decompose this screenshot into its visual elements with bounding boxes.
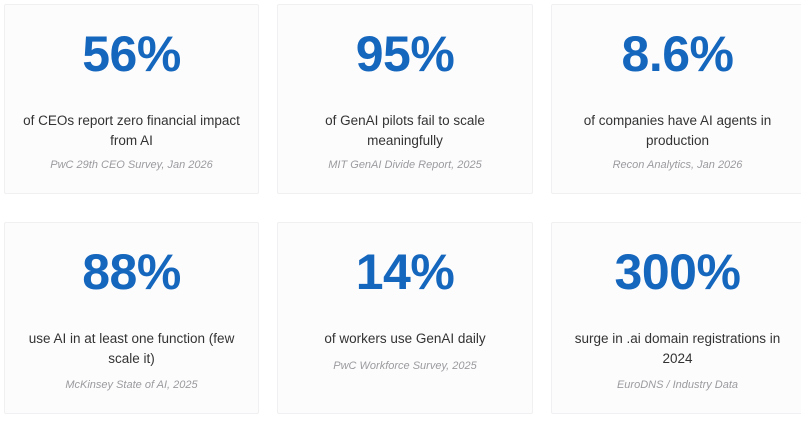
stat-card: 300% surge in .ai domain registrations i… [551,222,801,414]
stat-source: PwC 29th CEO Survey, Jan 2026 [50,159,212,171]
stat-card: 56% of CEOs report zero financial impact… [4,4,259,194]
stat-description: surge in .ai domain registrations in 202… [564,329,791,368]
stat-value: 14% [356,245,455,299]
stat-description: of workers use GenAI daily [324,329,485,349]
stat-value: 300% [615,245,741,299]
stat-source: MIT GenAI Divide Report, 2025 [328,159,481,171]
stat-source: Recon Analytics, Jan 2026 [613,159,743,171]
stat-description: use AI in at least one function (few sca… [17,329,246,368]
stat-value: 95% [356,27,455,81]
stat-description: of GenAI pilots fail to scale meaningful… [290,111,520,150]
stat-card: 88% use AI in at least one function (few… [4,222,259,414]
stat-source: McKinsey State of AI, 2025 [65,379,197,391]
stat-description: of companies have AI agents in productio… [564,111,791,150]
stat-source: PwC Workforce Survey, 2025 [333,360,476,372]
stat-card: 14% of workers use GenAI daily PwC Workf… [277,222,533,414]
stat-value: 88% [82,245,181,299]
stat-description: of CEOs report zero financial impact fro… [17,111,246,150]
stat-value: 56% [82,27,181,81]
stat-card: 95% of GenAI pilots fail to scale meanin… [277,4,533,194]
stats-grid: 56% of CEOs report zero financial impact… [0,0,801,425]
stat-card: 8.6% of companies have AI agents in prod… [551,4,801,194]
stat-source: EuroDNS / Industry Data [617,379,738,391]
stat-value: 8.6% [622,27,734,81]
